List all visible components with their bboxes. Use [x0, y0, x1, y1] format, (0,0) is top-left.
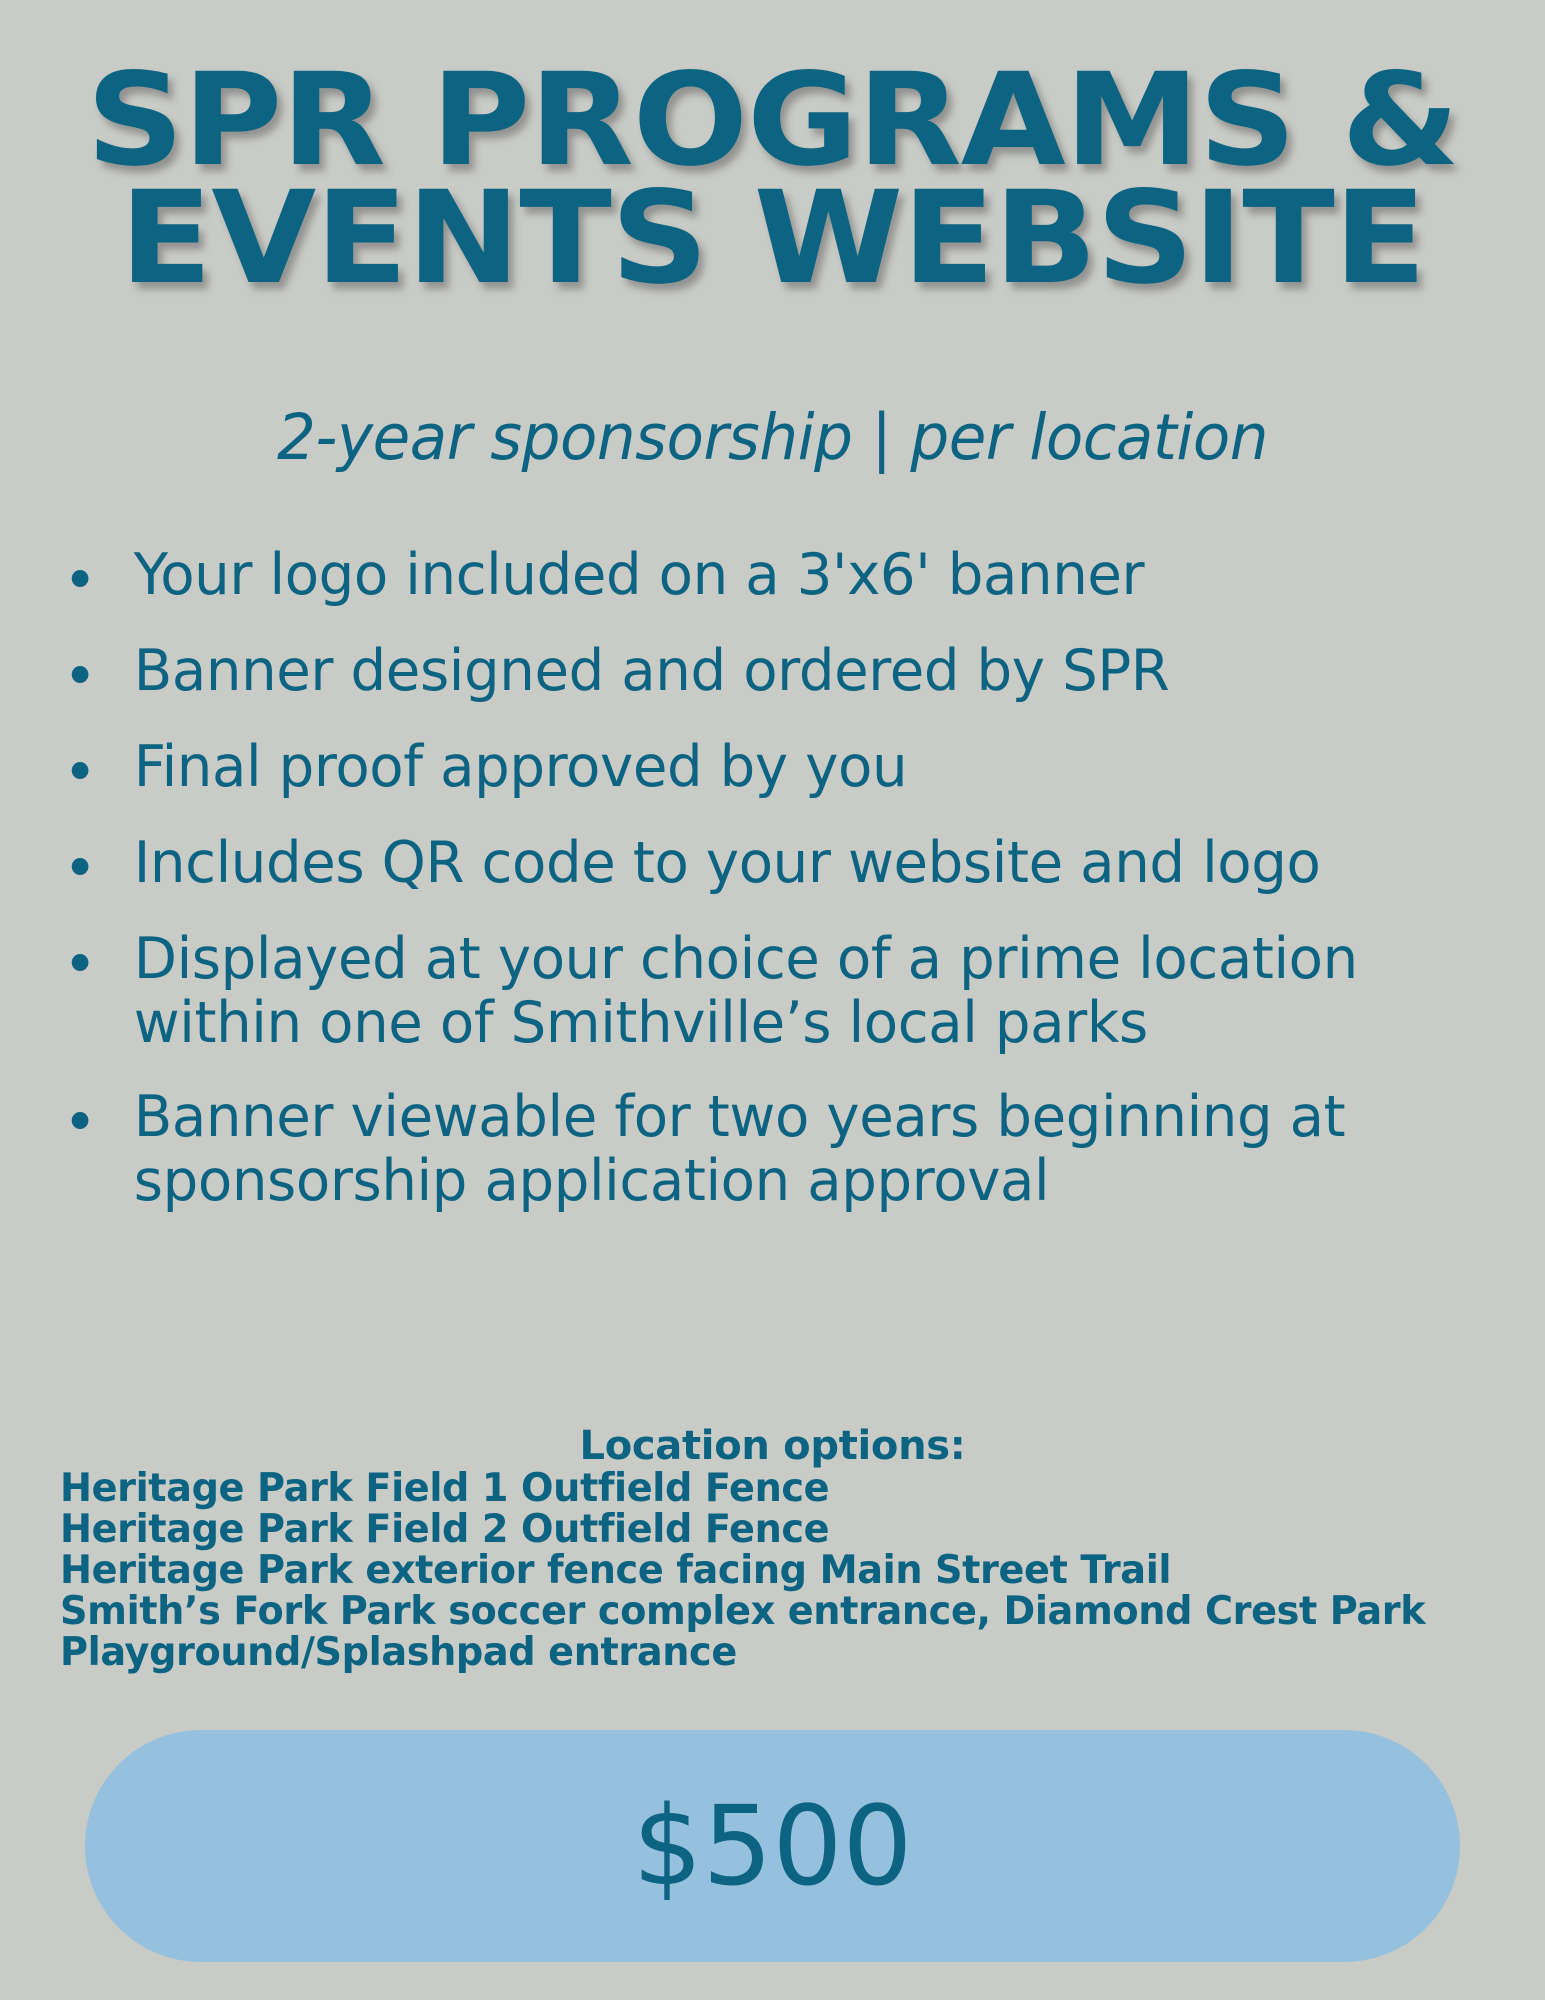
subtitle: 2-year sponsorship | per location [23, 402, 1522, 474]
list-item: Your logo included on a 3'x6' banner [52, 543, 1500, 607]
title-line-2: EVENTS WEBSITE [0, 180, 1545, 298]
bullet-dot-icon [72, 762, 89, 779]
benefit-text: Your logo included on a 3'x6' banner [134, 542, 1144, 608]
page-title: SPR PROGRAMS & EVENTS WEBSITE [0, 62, 1545, 298]
list-item: Banner viewable for two years beginning … [52, 1085, 1500, 1213]
sponsorship-flyer: SPR PROGRAMS & EVENTS WEBSITE 2-year spo… [0, 0, 1545, 2000]
price-badge: $500 [85, 1730, 1460, 1962]
title-line-1: SPR PROGRAMS & [0, 62, 1545, 180]
list-item: Displayed at your choice of a prime loca… [52, 927, 1500, 1055]
benefit-text: Banner designed and ordered by SPR [134, 638, 1170, 704]
location-options-list: Heritage Park Field 1 Outfield Fence Her… [60, 1468, 1520, 1673]
list-item: Includes QR code to your website and log… [52, 831, 1500, 895]
benefit-text: Final proof approved by you [134, 734, 907, 800]
bullet-dot-icon [72, 1112, 89, 1129]
benefits-list: Your logo included on a 3'x6' banner Ban… [52, 543, 1522, 1243]
list-item: Playground/Splashpad entrance [60, 1632, 1491, 1673]
bullet-dot-icon [72, 954, 89, 971]
list-item: Smith’s Fork Park soccer complex entranc… [60, 1591, 1491, 1632]
list-item: Heritage Park Field 1 Outfield Fence [60, 1468, 1491, 1509]
list-item: Final proof approved by you [52, 735, 1500, 799]
location-options-heading: Location options: [0, 1424, 1545, 1468]
bullet-dot-icon [72, 666, 89, 683]
bullet-dot-icon [72, 858, 89, 875]
bullet-dot-icon [72, 570, 89, 587]
list-item: Heritage Park Field 2 Outfield Fence [60, 1509, 1491, 1550]
price-amount: $500 [633, 1791, 913, 1901]
benefit-text: Includes QR code to your website and log… [134, 830, 1321, 896]
list-item: Banner designed and ordered by SPR [52, 639, 1500, 703]
benefit-text: Displayed at your choice of a prime loca… [134, 926, 1358, 1056]
list-item: Heritage Park exterior fence facing Main… [60, 1550, 1491, 1591]
benefit-text: Banner viewable for two years beginning … [134, 1084, 1346, 1214]
